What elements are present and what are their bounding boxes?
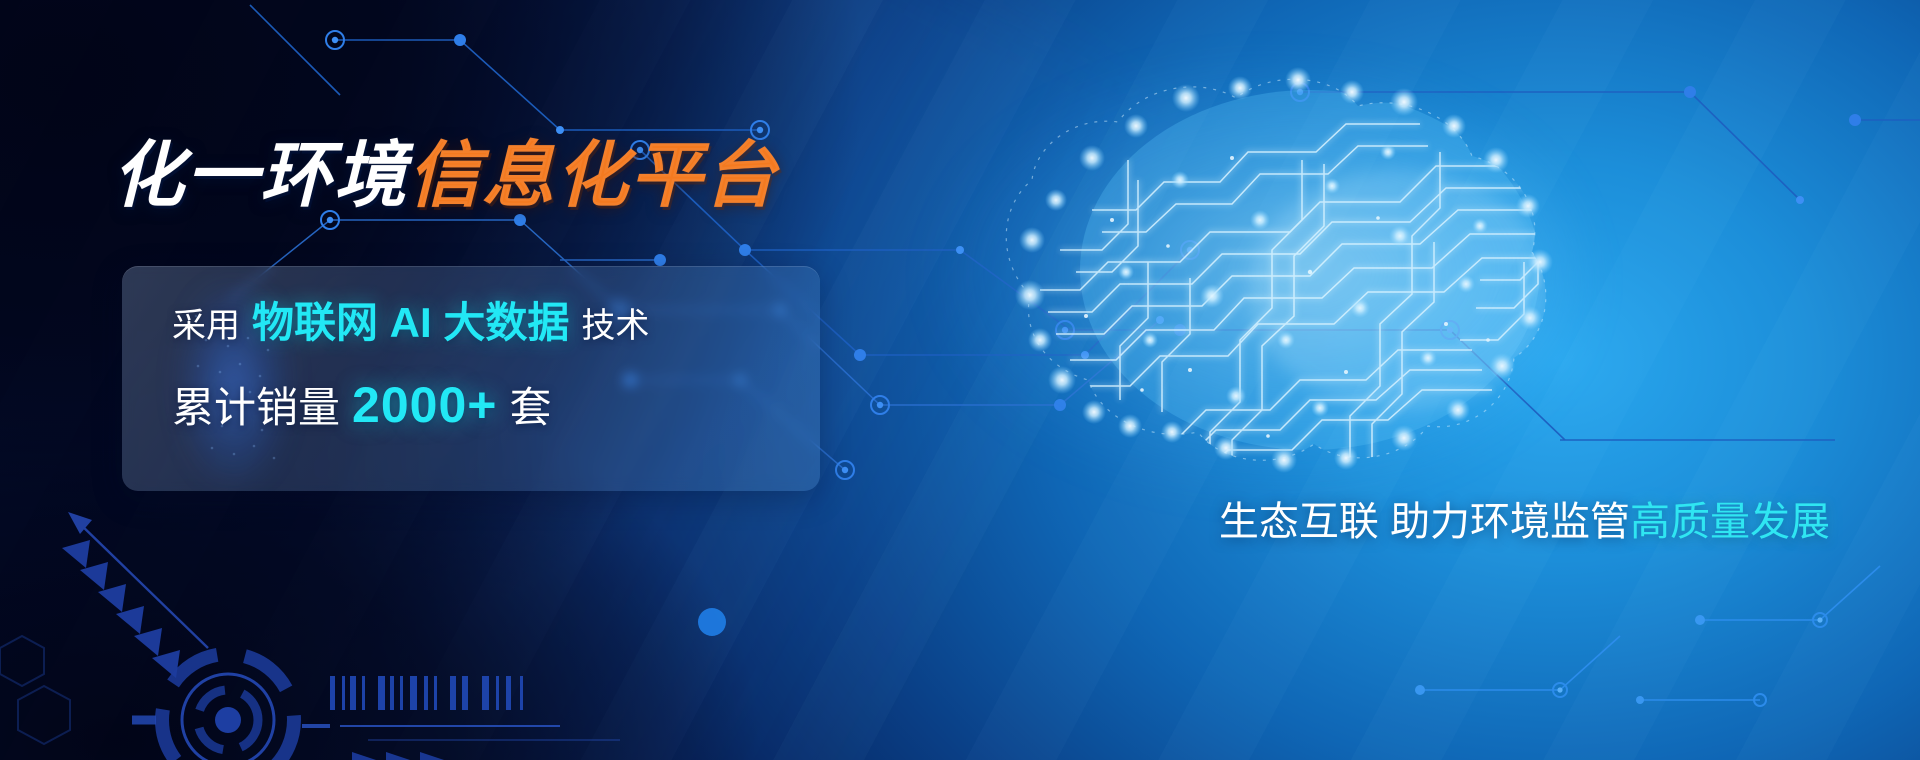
- title-orange-segment: 信息化平台: [408, 136, 778, 216]
- hero-banner: 化一环境信息化平台 采用物联网 AI 大数据技术 累计销量2000+套: [0, 0, 1920, 760]
- banner-tagline: 生态互联 助力环境监管高质量发展: [1219, 502, 1830, 542]
- feature-line2-suffix: 套: [509, 384, 551, 431]
- feature-line-sales: 累计销量2000+套: [172, 380, 649, 430]
- chevron-arrows-decoration: [352, 752, 444, 760]
- tagline-cyan-segment: 高质量发展: [1630, 500, 1830, 544]
- tagline-white-segment: 生态互联 助力环境监管: [1219, 500, 1630, 544]
- bottom-right-nodes: [1415, 566, 1880, 706]
- accent-dot: [698, 608, 726, 636]
- feature-line1-highlight: 物联网 AI 大数据: [252, 299, 569, 346]
- banner-title: 化一环境信息化平台: [112, 140, 778, 212]
- diagonal-arrow-decoration: [62, 512, 208, 678]
- feature-card: 采用物联网 AI 大数据技术 累计销量2000+套: [122, 266, 820, 491]
- feature-card-lines: 采用物联网 AI 大数据技术 累计销量2000+套: [172, 302, 649, 430]
- title-white-segment: 化一环境: [112, 136, 408, 216]
- barcode-bars-decoration: [330, 676, 523, 710]
- feature-line2-prefix: 累计销量: [172, 384, 340, 431]
- feature-line1-prefix: 采用: [172, 307, 240, 345]
- hexagon-wireframe-decoration: [0, 636, 70, 744]
- feature-line1-suffix: 技术: [581, 307, 649, 345]
- feature-line2-highlight: 2000+: [352, 377, 497, 433]
- hud-target-decoration: [132, 654, 294, 760]
- feature-line-technology: 采用物联网 AI 大数据技术: [172, 302, 649, 344]
